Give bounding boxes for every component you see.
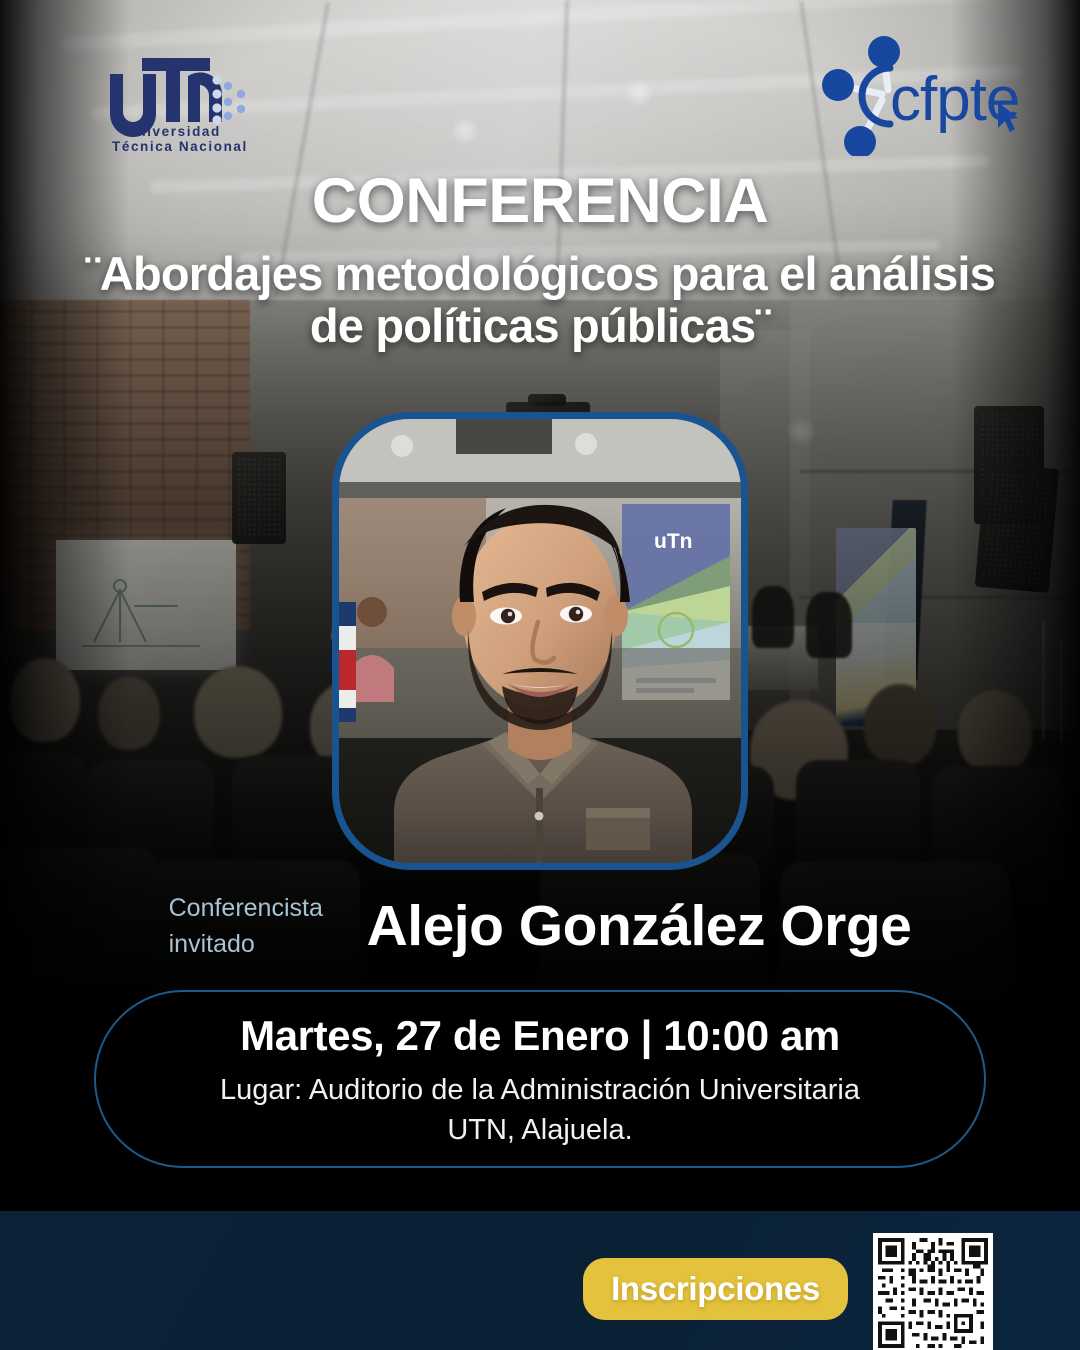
- qr-code-image: [878, 1238, 988, 1348]
- svg-text:uTn: uTn: [654, 530, 692, 553]
- conference-title: ¨Abordajes metodológicos para el análisi…: [0, 248, 1080, 351]
- title-block: CONFERENCIA ¨Abordajes metodológicos par…: [0, 168, 1080, 352]
- utn-wordmark-line1: Universidad: [126, 124, 221, 139]
- speaker-portrait-photo: uTn: [336, 416, 744, 866]
- speaker-kicker-line2: invitado: [169, 926, 339, 962]
- speaker-name: Alejo González Orge: [367, 893, 912, 959]
- speaker-kicker-line1: Conferencista: [169, 890, 339, 926]
- utn-wordmark-line2: Técnica Nacional: [112, 139, 248, 154]
- registration-qr-code[interactable]: [873, 1233, 993, 1350]
- speaker-credit-row: Conferencista invitado Alejo González Or…: [0, 890, 1080, 963]
- event-venue-line1: Lugar: Auditorio de la Administración Un…: [220, 1070, 860, 1110]
- event-date-time: Martes, 27 de Enero | 10:00 am: [240, 1012, 840, 1060]
- event-venue-line2: UTN, Alajuela.: [220, 1110, 860, 1150]
- registration-button[interactable]: Inscripciones: [583, 1258, 848, 1320]
- speaker-kicker: Conferencista invitado: [169, 890, 339, 963]
- event-details-box: Martes, 27 de Enero | 10:00 am Lugar: Au…: [94, 990, 986, 1168]
- conference-poster: Universidad Técnica Nacional cfpte CONFE…: [0, 0, 1080, 1350]
- cfpte-logo: cfpte: [812, 28, 1024, 156]
- speaker-portrait-container: uTn: [332, 412, 748, 870]
- event-venue: Lugar: Auditorio de la Administración Un…: [220, 1070, 860, 1150]
- event-type-heading: CONFERENCIA: [0, 168, 1080, 234]
- utn-logo: Universidad Técnica Nacional: [104, 44, 254, 154]
